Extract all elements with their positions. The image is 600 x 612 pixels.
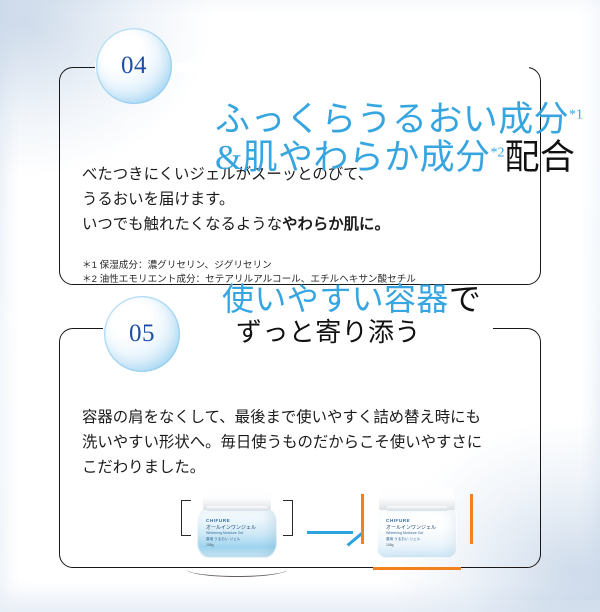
before-jar-label-volume: 108g [206,543,268,547]
section-04-body-line-3: いつでも触れたくなるようなやわらか肌に。 [82,213,525,238]
right-arrow-icon [307,522,363,542]
after-jar-label-en-name: Whitening Moisture Gel [386,531,448,535]
section-04-heading-line-1-text: ふっくらうるおい成分 [215,100,569,139]
section-05-body-line-3: こだわりました。 [82,456,523,481]
before-jar-shadow [187,562,287,577]
before-jar-label-en-name: Whitening Moisture Gel [206,531,268,535]
after-jar-marker-bottom [373,567,461,570]
after-jar-marker-left [361,494,364,544]
right-arrow-shaft [307,531,353,534]
section-04-heading-line-2-superscript: *2 [490,145,504,160]
section-05-heading-line-1-text: 使いやすい容器 [222,281,449,317]
section-04-heading: ふっくらうるおい成分*1 &肌やわらか成分*2配合 [215,101,583,177]
before-jar-label: CHIFURE オールインワンジェル Whitening Moisture Ge… [206,518,268,547]
section-04-heading-line-1-superscript: *1 [569,107,583,122]
before-jar-graphic: CHIFURE オールインワンジェル Whitening Moisture Ge… [197,488,277,560]
after-jar-marker-right [470,494,473,544]
section-04-heading-line-2-text: &肌やわらか成分 [215,138,490,177]
after-jar-neck [387,506,447,511]
before-jar: CHIFURE オールインワンジェル Whitening Moisture Ge… [179,480,295,572]
after-jar-label-sub: 薬用 うるおい ジェル [386,537,448,541]
before-jar-label-jp-name: オールインワンジェル [206,525,268,531]
after-jar-label-brand: CHIFURE [386,518,448,524]
section-05-heading-line-1: 使いやすい容器で [222,282,481,318]
after-jar-label: CHIFURE オールインワンジェル Whitening Moisture Ge… [386,518,448,547]
section-04-badge-number: 04 [121,52,147,80]
section-04: 04 ふっくらうるおい成分*1 &肌やわらか成分*2配合 べたつきにくいジェルが… [59,67,541,285]
section-05-heading-line-1-suffix: で [449,281,481,317]
section-04-body-line-3-text: いつでも触れたくなるような [82,216,282,233]
after-jar-graphic: CHIFURE オールインワンジェル Whitening Moisture Ge… [377,488,457,560]
section-05-heading: 使いやすい容器で ずっと寄り添う [222,282,481,347]
section-05-body: 容器の肩をなくして、最後まで使いやすく詰め替え時にも 洗いやすい形状へ。毎日使う… [82,406,523,481]
before-jar-shoulder-bracket-left [181,500,191,536]
after-jar-label-jp-name: オールインワンジェル [386,525,448,531]
section-04-body-line-2: うるおいを届けます。 [82,188,525,213]
infographic-canvas: 04 ふっくらうるおい成分*1 &肌やわらか成分*2配合 べたつきにくいジェルが… [0,0,600,600]
after-jar-label-volume: 108g [386,543,448,547]
section-05-body-line-1: 容器の肩をなくして、最後まで使いやすく詰め替え時にも [82,406,523,431]
before-jar-label-brand: CHIFURE [206,518,268,524]
before-jar-neck [207,506,267,511]
section-04-heading-line-2: &肌やわらか成分*2配合 [215,139,583,177]
section-04-heading-line-2-suffix: 配合 [504,138,575,177]
after-jar: CHIFURE オールインワンジェル Whitening Moisture Ge… [359,480,475,572]
before-jar-shoulder-bracket-right [283,500,293,536]
section-04-badge: 04 [96,28,172,104]
footnote-1: ＊1 保湿成分：濃グリセリン、ジグリセリン [82,259,416,273]
section-05-badge: 05 [104,296,180,372]
content-sheet: 04 ふっくらうるおい成分*1 &肌やわらか成分*2配合 べたつきにくいジェルが… [18,14,582,582]
section-05-heading-line-2: ずっと寄り添う [222,318,481,347]
section-05-body-line-2: 洗いやすい形状へ。毎日使うものだからこそ使いやすさに [82,431,523,456]
section-05-badge-number: 05 [129,320,155,348]
section-04-heading-line-1: ふっくらうるおい成分*1 [215,101,583,139]
container-comparison: CHIFURE オールインワンジェル Whitening Moisture Ge… [59,480,541,576]
section-05: 05 使いやすい容器で ずっと寄り添う 容器の肩をなくして、最後まで使いやすく詰… [59,328,541,568]
section-04-body-line-3-emphasis: やわらか肌に。 [282,216,390,233]
before-jar-label-sub: 薬用 うるおい ジェル [206,537,268,541]
